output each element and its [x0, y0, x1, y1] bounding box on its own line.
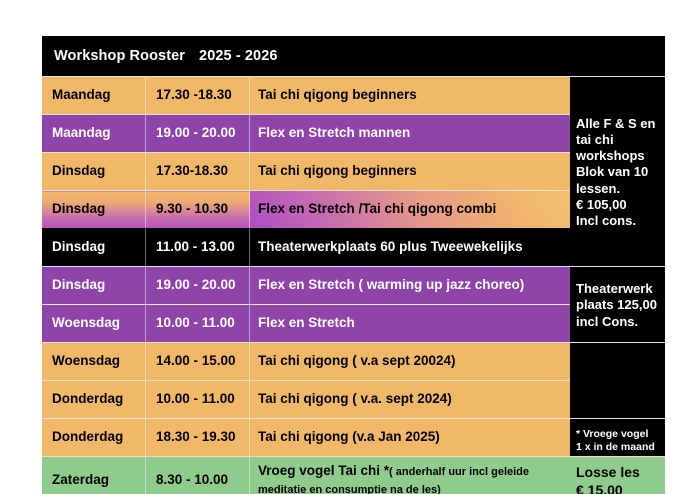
- row-day: Donderdag: [42, 381, 146, 419]
- row-day: Maandag: [42, 115, 146, 153]
- row-day: Donderdag: [42, 419, 146, 457]
- title-years: 2025 - 2026: [185, 48, 278, 64]
- sidebar-single-lesson: Losse les € 15,00: [570, 457, 665, 494]
- schedule-page: Workshop Rooster2025 - 2026 Maandag 17.3…: [0, 0, 700, 494]
- row-day: Dinsdag: [42, 267, 146, 305]
- sidebar-block-price: Alle F & S en tai chi workshops Blok van…: [570, 77, 665, 267]
- sidebar-footnote: * Vroege vogel 1 x in de maand: [570, 419, 665, 457]
- row-time: 10.00 - 11.00: [146, 305, 250, 343]
- row-description: Flex en Stretch: [250, 305, 570, 343]
- row-time: 14.00 - 15.00: [146, 343, 250, 381]
- row-time: 11.00 - 13.00: [146, 229, 250, 267]
- row-time: 9.30 - 10.30: [146, 191, 250, 229]
- row-time: 19.00 - 20.00: [146, 115, 250, 153]
- table-row: Maandag 17.30 -18.30 Tai chi qigong begi…: [42, 77, 665, 115]
- row-day: Dinsdag: [42, 229, 146, 267]
- sidebar-theater-price: Theaterwerk plaats 125,00 incl Cons.: [570, 267, 665, 343]
- table-row: Zaterdag 8.30 - 10.00 Vroeg vogel Tai ch…: [42, 457, 665, 494]
- row-day: Dinsdag: [42, 191, 146, 229]
- row-description: Flex en Stretch /Tai chi qigong combi: [250, 191, 570, 229]
- row-description: Tai chi qigong beginners: [250, 153, 570, 191]
- table-row: Woensdag 14.00 - 15.00 Tai chi qigong ( …: [42, 343, 665, 381]
- row-description: Tai chi qigong (v.a Jan 2025): [250, 419, 570, 457]
- row-day: Woensdag: [42, 343, 146, 381]
- table-row: Dinsdag 19.00 - 20.00 Flex en Stretch ( …: [42, 267, 665, 305]
- row-description: Vroeg vogel Tai chi *( anderhalf uur inc…: [250, 457, 570, 494]
- table-title-row: Workshop Rooster2025 - 2026: [42, 36, 665, 77]
- table-row: Donderdag 18.30 - 19.30 Tai chi qigong (…: [42, 419, 665, 457]
- workshop-schedule-table: Workshop Rooster2025 - 2026 Maandag 17.3…: [42, 36, 665, 494]
- row-description: Theaterwerkplaats 60 plus Tweewekelijks: [250, 229, 570, 267]
- page-title: Workshop Rooster2025 - 2026: [42, 36, 665, 77]
- row-day: Dinsdag: [42, 153, 146, 191]
- row-day: Woensdag: [42, 305, 146, 343]
- row-time: 19.00 - 20.00: [146, 267, 250, 305]
- row-time: 17.30 -18.30: [146, 77, 250, 115]
- title-text: Workshop Rooster: [54, 48, 185, 64]
- row-day: Maandag: [42, 77, 146, 115]
- row-description: Flex en Stretch mannen: [250, 115, 570, 153]
- row-time: 17.30-18.30: [146, 153, 250, 191]
- row-time: 8.30 - 10.00: [146, 457, 250, 494]
- row-description: Tai chi qigong ( v.a sept 20024): [250, 343, 570, 381]
- row-day: Zaterdag: [42, 457, 146, 494]
- row-time: 18.30 - 19.30: [146, 419, 250, 457]
- sidebar-spacer: [570, 343, 665, 419]
- row-description-main: Vroeg vogel Tai chi *: [258, 463, 389, 478]
- row-description: Tai chi qigong ( v.a. sept 2024): [250, 381, 570, 419]
- row-time: 10.00 - 11.00: [146, 381, 250, 419]
- row-description: Tai chi qigong beginners: [250, 77, 570, 115]
- row-description: Flex en Stretch ( warming up jazz choreo…: [250, 267, 570, 305]
